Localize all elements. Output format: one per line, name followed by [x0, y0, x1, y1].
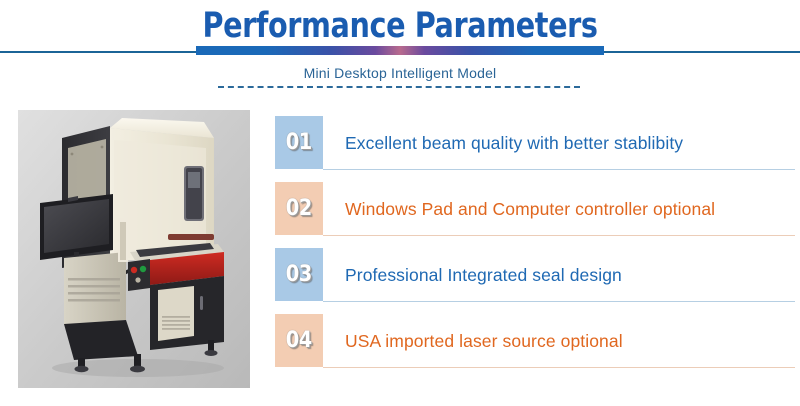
page-title: Performance Parameters: [72, 6, 728, 46]
feature-label: USA imported laser source optional: [345, 314, 623, 367]
feature-label: Windows Pad and Computer controller opti…: [345, 182, 715, 235]
feature-label: Professional Integrated seal design: [345, 248, 622, 301]
page-subtitle: Mini Desktop Intelligent Model: [0, 64, 800, 82]
feature-number-badge: 02: [275, 182, 323, 235]
feature-row[interactable]: 03 Professional Integrated seal design: [275, 248, 795, 301]
feature-number-badge: 03: [275, 248, 323, 301]
feature-number-badge: 04: [275, 314, 323, 367]
feature-list: 01 Excellent beam quality with better st…: [275, 116, 795, 394]
feature-number: 03: [286, 264, 312, 286]
laser-marking-machine-illustration: [18, 110, 250, 388]
feature-number: 04: [286, 330, 312, 352]
title-gradient-bar: [196, 46, 604, 55]
feature-divider: [323, 367, 795, 368]
feature-row[interactable]: 01 Excellent beam quality with better st…: [275, 116, 795, 169]
feature-number: 02: [286, 198, 312, 220]
product-photo: [18, 110, 250, 388]
feature-label: Excellent beam quality with better stabl…: [345, 116, 683, 169]
feature-divider: [323, 235, 795, 236]
feature-row[interactable]: 02 Windows Pad and Computer controller o…: [275, 182, 795, 235]
subtitle-dashed-divider: [218, 86, 580, 88]
feature-number-badge: 01: [275, 116, 323, 169]
feature-divider: [323, 169, 795, 170]
page-header: Performance Parameters Mini Desktop Inte…: [0, 0, 800, 100]
feature-row[interactable]: 04 USA imported laser source optional: [275, 314, 795, 367]
feature-number: 01: [286, 132, 312, 154]
feature-divider: [323, 301, 795, 302]
